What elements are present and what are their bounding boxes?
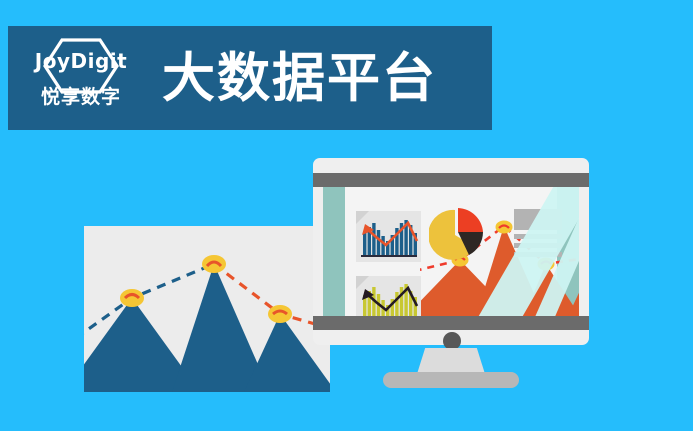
- area-trend-marker: [538, 258, 555, 271]
- yellow-bar-chart-card: [356, 276, 421, 316]
- blue-bar-chart-card: [356, 211, 421, 262]
- header-banner: JoyDigit 悦享数字 大数据平台: [8, 26, 492, 130]
- monitor-top-bar: [313, 173, 589, 187]
- trend-marker: [120, 289, 144, 307]
- brand-logo: JoyDigit 悦享数字: [22, 32, 140, 124]
- monitor-bottom-bar: [313, 316, 589, 330]
- page-title: 大数据平台: [162, 52, 437, 105]
- monitor-power-button[interactable]: [443, 332, 461, 350]
- pie-slice-red: [458, 208, 483, 232]
- trend-marker: [202, 255, 226, 273]
- text-block-heading: [514, 209, 562, 230]
- monitor-frame: [313, 158, 589, 345]
- text-block-line: [514, 243, 562, 248]
- area-trend-marker: [496, 221, 513, 234]
- trend-marker: [268, 305, 292, 323]
- yellow-bar-chart: [356, 276, 421, 316]
- pie-chart-graphic: [429, 208, 484, 263]
- brand-subtitle-text: 悦享数字: [41, 88, 121, 107]
- monitor-screen: [323, 187, 579, 316]
- monitor-stand: [417, 348, 485, 374]
- desktop-monitor: [313, 158, 589, 345]
- text-placeholder-block: [514, 209, 562, 253]
- mountain-trend-graphic: [84, 226, 330, 392]
- screen-edge-left: [323, 187, 345, 316]
- brand-name-text: JoyDigit: [35, 51, 127, 71]
- pie-chart: [429, 208, 484, 263]
- monitor-base: [383, 372, 519, 388]
- poster-canvas: JoyDigit 悦享数字 大数据平台: [0, 0, 693, 431]
- baseline: [361, 255, 417, 257]
- text-block-line: [514, 252, 562, 257]
- text-block-line: [514, 234, 562, 239]
- blue-bar-chart: [356, 211, 421, 262]
- mountain-trend-panel: [84, 226, 330, 392]
